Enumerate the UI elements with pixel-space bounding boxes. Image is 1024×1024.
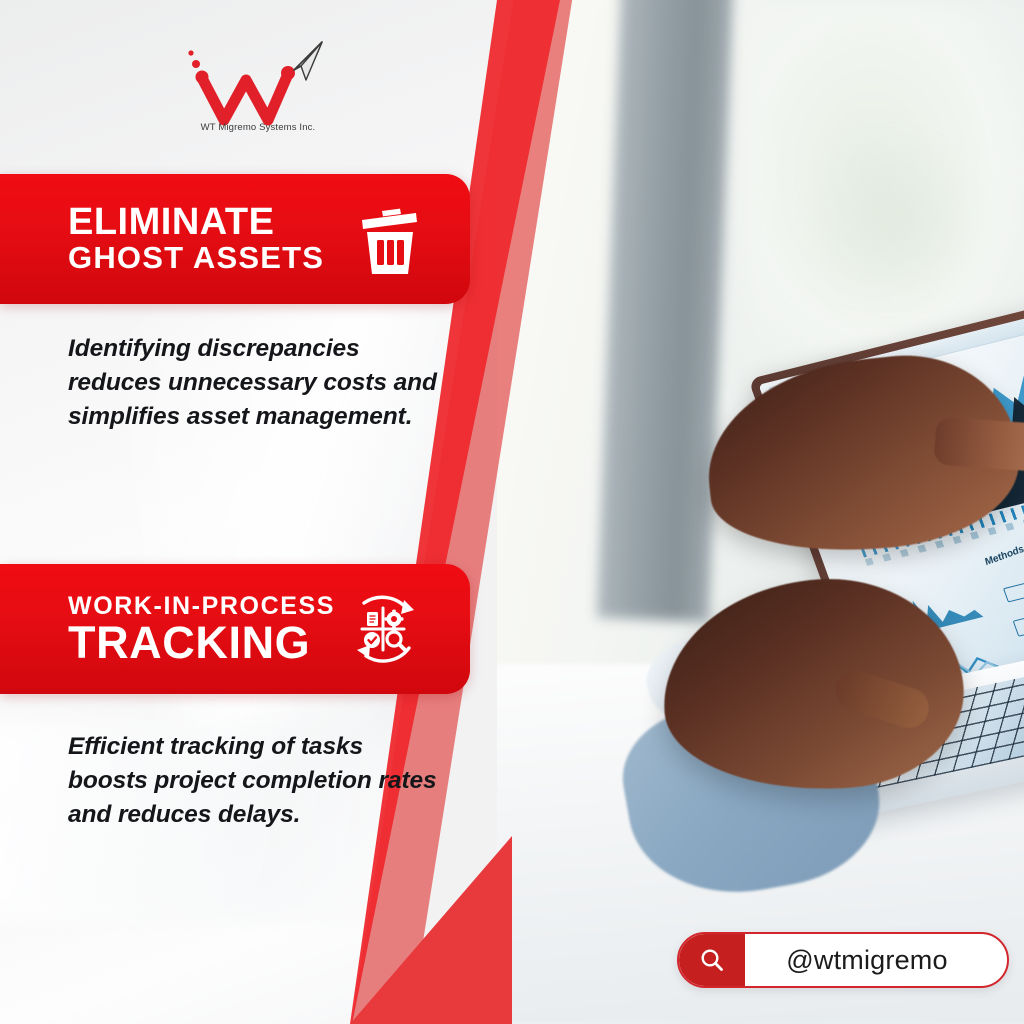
car-icon [1003, 583, 1024, 603]
card-headline-banner-2[interactable]: WORK-IN-PROCESS TRACKING [0, 564, 470, 694]
banner-2-line-2: TRACKING [68, 620, 335, 665]
w-arrow-logo-icon [188, 40, 328, 126]
process-cycle-icon [344, 590, 422, 668]
typing-finger [830, 665, 934, 733]
social-handle-bar[interactable]: @wtmigremo [677, 932, 1009, 988]
window-light-glow-secondary [804, 120, 984, 320]
bus-icon [1013, 615, 1024, 637]
banner-1-line-2: GHOST ASSETS [68, 241, 324, 275]
banner-1-text: ELIMINATE GHOST ASSETS [0, 203, 324, 276]
social-handle-text: @wtmigremo [745, 945, 1007, 976]
promo-poster: Sheet 1 of 1 Methods of Transport [0, 0, 1024, 1024]
left-content-panel [0, 0, 560, 1024]
card-2-body-text: Efficient tracking of tasks boosts proje… [68, 730, 448, 831]
banner-2-text: WORK-IN-PROCESS TRACKING [0, 593, 335, 664]
office-laptop-photo: Sheet 1 of 1 Methods of Transport [497, 0, 1024, 1024]
card-headline-banner-1[interactable]: ELIMINATE GHOST ASSETS [0, 174, 470, 304]
brand-name: WT Migremo Systems Inc. [188, 122, 328, 133]
search-button[interactable] [679, 934, 745, 986]
trash-bin-icon [356, 202, 422, 276]
brand-logo: WT Migremo Systems Inc. [188, 40, 328, 140]
banner-2-line-1: WORK-IN-PROCESS [68, 593, 335, 619]
laptop: Sheet 1 of 1 Methods of Transport [697, 300, 1024, 820]
banner-1-icon-wrap [356, 202, 422, 276]
banner-2-icon-wrap [344, 590, 422, 668]
search-icon [699, 947, 725, 973]
index-finger [933, 416, 1024, 475]
card-1-body-text: Identifying discrepancies reduces unnece… [68, 332, 448, 433]
banner-1-line-1: ELIMINATE [68, 203, 324, 242]
